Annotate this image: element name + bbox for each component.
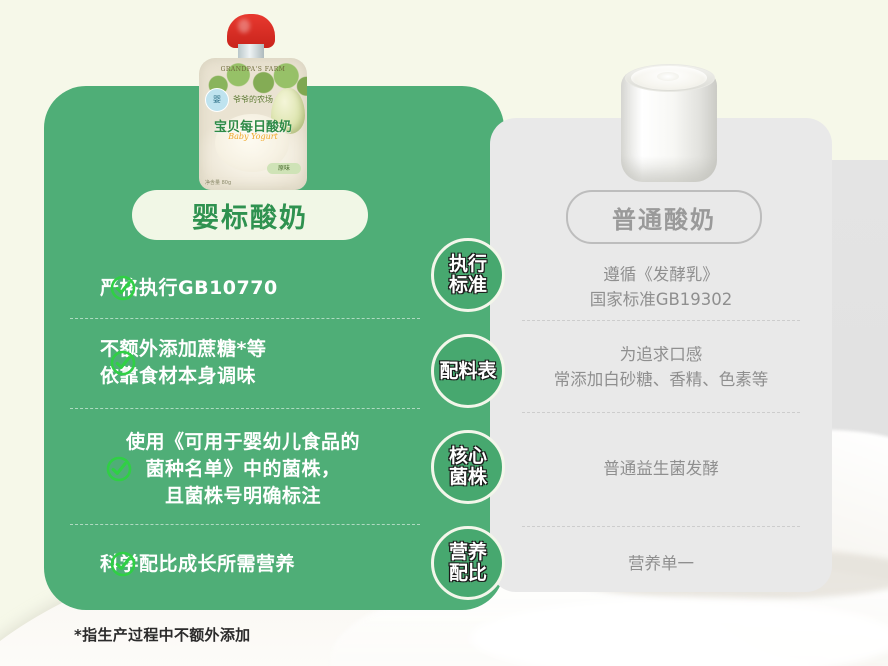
pouch-title-en: Baby Yogurt — [199, 132, 307, 141]
check-circle-icon — [106, 456, 132, 482]
baby-yogurt-title-label: 婴标酸奶 — [192, 196, 308, 235]
right-row-divider-3 — [522, 526, 800, 527]
right-feature-text-4: 营养单一 — [500, 551, 822, 576]
category-circle-3: 核心 菌株 — [431, 430, 505, 504]
comparison-infographic: GRANDPA'S FARM 婴 爷爷的农场 宝贝每日酸奶 Baby Yogur… — [0, 0, 888, 666]
left-row-divider-3 — [70, 524, 420, 525]
category-label-1: 执行 标准 — [449, 254, 487, 296]
category-circle-1: 执行 标准 — [431, 238, 505, 312]
category-label-4: 营养 配比 — [449, 542, 487, 584]
left-feature-row-4: 科学配比成长所需营养 — [44, 542, 464, 586]
check-circle-icon — [110, 350, 136, 376]
pouch-flavor-flag: 原味 — [267, 163, 301, 174]
check-circle-icon — [110, 551, 136, 577]
milk-swirl-bottom-shape — [470, 598, 888, 666]
pouch-body-shape: GRANDPA'S FARM 婴 爷爷的农场 宝贝每日酸奶 Baby Yogur… — [199, 58, 307, 190]
category-label-3: 核心 菌株 — [449, 446, 487, 488]
pouch-brand-en: GRANDPA'S FARM — [199, 66, 307, 73]
right-feature-text-2: 为追求口感 常添加白砂糖、香精、色素等 — [500, 342, 822, 392]
plain-yogurt-title-label: 普通酸奶 — [612, 200, 716, 235]
jar-cream-surface-shape — [631, 66, 707, 90]
jar-shadow-shape — [621, 156, 717, 182]
left-row-divider-2 — [70, 408, 420, 409]
baby-yogurt-pouch-image: GRANDPA'S FARM 婴 爷爷的农场 宝贝每日酸奶 Baby Yogur… — [197, 14, 309, 192]
baby-yogurt-title-pill: 婴标酸奶 — [132, 190, 368, 240]
plain-yogurt-jar-image — [621, 58, 717, 182]
footnote-label: *指生产过程中不额外添加 — [74, 624, 250, 645]
check-circle-icon — [110, 275, 136, 301]
category-label-2: 配料表 — [439, 361, 496, 382]
left-feature-row-1: 严格执行GB10770 — [44, 266, 464, 310]
pouch-netweight: 净含量 80g — [205, 179, 231, 186]
category-circle-2: 配料表 — [431, 334, 505, 408]
category-circle-4: 营养 配比 — [431, 526, 505, 600]
plain-yogurt-title-pill: 普通酸奶 — [566, 190, 762, 244]
right-feature-text-3: 普通益生菌发酵 — [500, 456, 822, 481]
left-feature-row-3: 使用《可用于婴幼儿食品的 菌种名单》中的菌株， 且菌株号明确标注 — [30, 426, 464, 512]
left-feature-text-3: 使用《可用于婴幼儿食品的 菌种名单》中的菌株， 且菌株号明确标注 — [126, 429, 360, 510]
pouch-cap-shape — [227, 14, 275, 48]
left-row-divider-1 — [70, 318, 420, 319]
left-feature-row-2: 不额外添加蔗糖*等 依靠食材本身调味 — [44, 334, 464, 392]
right-row-divider-2 — [522, 412, 800, 413]
pouch-brand-cn: 爷爷的农场 — [199, 94, 307, 105]
right-row-divider-1 — [522, 320, 800, 321]
right-feature-text-1: 遵循《发酵乳》 国家标准GB19302 — [500, 262, 822, 312]
